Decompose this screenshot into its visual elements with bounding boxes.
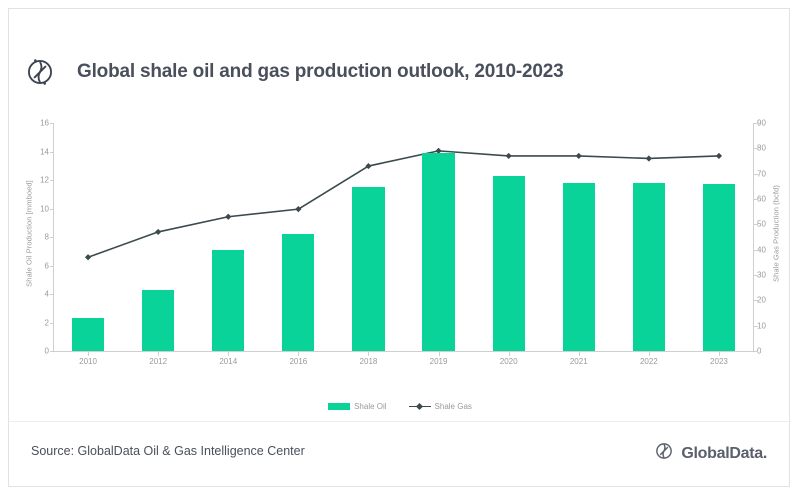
line-marker-2014 xyxy=(225,214,231,220)
bar-2014 xyxy=(212,250,244,351)
bar-2016 xyxy=(282,234,314,351)
chart-card: Global shale oil and gas production outl… xyxy=(8,8,790,487)
chart-plot-area: Shale Oil Production [mmboed] Shale Gas … xyxy=(9,101,791,401)
y-axis-right-tick-mark xyxy=(754,174,758,175)
legend-item-shale-oil[interactable]: Shale Oil xyxy=(328,402,386,411)
line-marker-2012 xyxy=(155,229,161,235)
y-axis-left-tick-label: 4 xyxy=(27,290,49,299)
y-axis-right-tick-label: 0 xyxy=(757,347,779,356)
y-axis-left-tick-label: 14 xyxy=(27,147,49,156)
line-marker-2023 xyxy=(716,153,722,159)
y-axis-left-tick-mark xyxy=(50,351,54,352)
y-axis-left-tick-mark xyxy=(50,152,54,153)
globaldata-mark-icon xyxy=(23,55,57,89)
y-axis-right-tick-label: 30 xyxy=(757,271,779,280)
y-axis-right-ticks: 0102030405060708090 xyxy=(757,101,779,351)
x-axis-tick-mark xyxy=(158,352,159,356)
x-axis-tick-label-2014: 2014 xyxy=(219,357,237,366)
y-axis-left-tick-label: 2 xyxy=(27,318,49,327)
y-axis-left-tick-mark xyxy=(50,237,54,238)
y-axis-left-tick-mark xyxy=(50,266,54,267)
y-axis-right-tick-mark xyxy=(754,275,758,276)
y-axis-left-tick-label: 6 xyxy=(27,261,49,270)
x-axis-tick-label-2023: 2023 xyxy=(710,357,728,366)
line-marker-2020 xyxy=(506,153,512,159)
legend-label-shale-gas: Shale Gas xyxy=(435,402,472,411)
y-axis-left-tick-label: 0 xyxy=(27,347,49,356)
line-marker-2021 xyxy=(576,153,582,159)
x-axis-tick-label-2020: 2020 xyxy=(500,357,518,366)
source-text: Source: GlobalData Oil & Gas Intelligenc… xyxy=(31,444,305,458)
x-axis-tick-mark xyxy=(719,352,720,356)
y-axis-right-tick-mark xyxy=(754,326,758,327)
y-axis-right-tick-mark xyxy=(754,148,758,149)
y-axis-right-tick-label: 80 xyxy=(757,144,779,153)
x-axis-tick-mark xyxy=(228,352,229,356)
y-axis-left-tick-label: 12 xyxy=(27,176,49,185)
y-axis-right-tick-label: 40 xyxy=(757,245,779,254)
y-axis-right-tick-label: 70 xyxy=(757,169,779,178)
y-axis-right-tick-label: 10 xyxy=(757,321,779,330)
y-axis-right-tick-label: 20 xyxy=(757,296,779,305)
y-axis-left-tick-label: 16 xyxy=(27,119,49,128)
y-axis-left-tick-mark xyxy=(50,180,54,181)
chart-footer: Source: GlobalData Oil & Gas Intelligenc… xyxy=(9,421,791,488)
y-axis-right-tick-mark xyxy=(754,250,758,251)
x-axis-tick-mark xyxy=(298,352,299,356)
x-axis-tick-mark xyxy=(649,352,650,356)
y-axis-right-tick-label: 60 xyxy=(757,195,779,204)
bar-2012 xyxy=(142,290,174,351)
y-axis-left-tick-mark xyxy=(50,294,54,295)
page-title: Global shale oil and gas production outl… xyxy=(77,61,563,83)
x-axis-tick-mark xyxy=(88,352,89,356)
chart-header: Global shale oil and gas production outl… xyxy=(9,9,789,101)
x-axis-ticks: 2010201220142016201820192020202120222023 xyxy=(53,357,754,377)
y-axis-left-ticks: 0246810121416 xyxy=(27,101,49,351)
footer-logo: GlobalData. xyxy=(653,440,767,467)
x-axis-tick-mark xyxy=(368,352,369,356)
bar-2019 xyxy=(422,153,454,351)
bar-2023 xyxy=(703,184,735,351)
bar-2020 xyxy=(493,176,525,351)
y-axis-left-tick-label: 8 xyxy=(27,233,49,242)
y-axis-left-tick-mark xyxy=(50,209,54,210)
y-axis-right-tick-mark xyxy=(754,224,758,225)
line-marker-2010 xyxy=(85,254,91,260)
bar-2022 xyxy=(633,183,665,351)
y-axis-right-tick-mark xyxy=(754,199,758,200)
y-axis-right-tick-mark xyxy=(754,351,758,352)
series-canvas xyxy=(53,123,754,351)
x-axis-tick-label-2012: 2012 xyxy=(149,357,167,366)
y-axis-left-tick-mark xyxy=(50,323,54,324)
shale-gas-line xyxy=(88,151,719,257)
y-axis-left-tick-mark xyxy=(50,123,54,124)
x-axis-tick-label-2022: 2022 xyxy=(640,357,658,366)
globaldata-mark-icon xyxy=(653,440,675,467)
legend-swatch-bar-icon xyxy=(328,403,350,410)
x-axis-tick-mark xyxy=(439,352,440,356)
x-axis-tick-label-2018: 2018 xyxy=(360,357,378,366)
y-axis-right-tick-label: 90 xyxy=(757,119,779,128)
bar-2021 xyxy=(563,183,595,351)
x-axis-tick-label-2019: 2019 xyxy=(430,357,448,366)
x-axis-tick-label-2021: 2021 xyxy=(570,357,588,366)
legend-label-shale-oil: Shale Oil xyxy=(354,402,386,411)
line-marker-2022 xyxy=(646,155,652,161)
x-axis-tick-mark xyxy=(579,352,580,356)
y-axis-right-tick-mark xyxy=(754,300,758,301)
legend-swatch-line-icon xyxy=(409,403,431,410)
y-axis-right-tick-label: 50 xyxy=(757,220,779,229)
x-axis-tick-mark xyxy=(509,352,510,356)
chart-legend: Shale Oil Shale Gas xyxy=(9,397,791,415)
x-axis-tick-label-2010: 2010 xyxy=(79,357,97,366)
bar-2018 xyxy=(352,187,384,351)
y-axis-left-tick-label: 10 xyxy=(27,204,49,213)
y-axis-right-tick-mark xyxy=(754,123,758,124)
x-axis-tick-label-2016: 2016 xyxy=(289,357,307,366)
footer-logo-text: GlobalData. xyxy=(681,445,767,463)
bar-2010 xyxy=(72,318,104,351)
legend-item-shale-gas[interactable]: Shale Gas xyxy=(409,402,472,411)
